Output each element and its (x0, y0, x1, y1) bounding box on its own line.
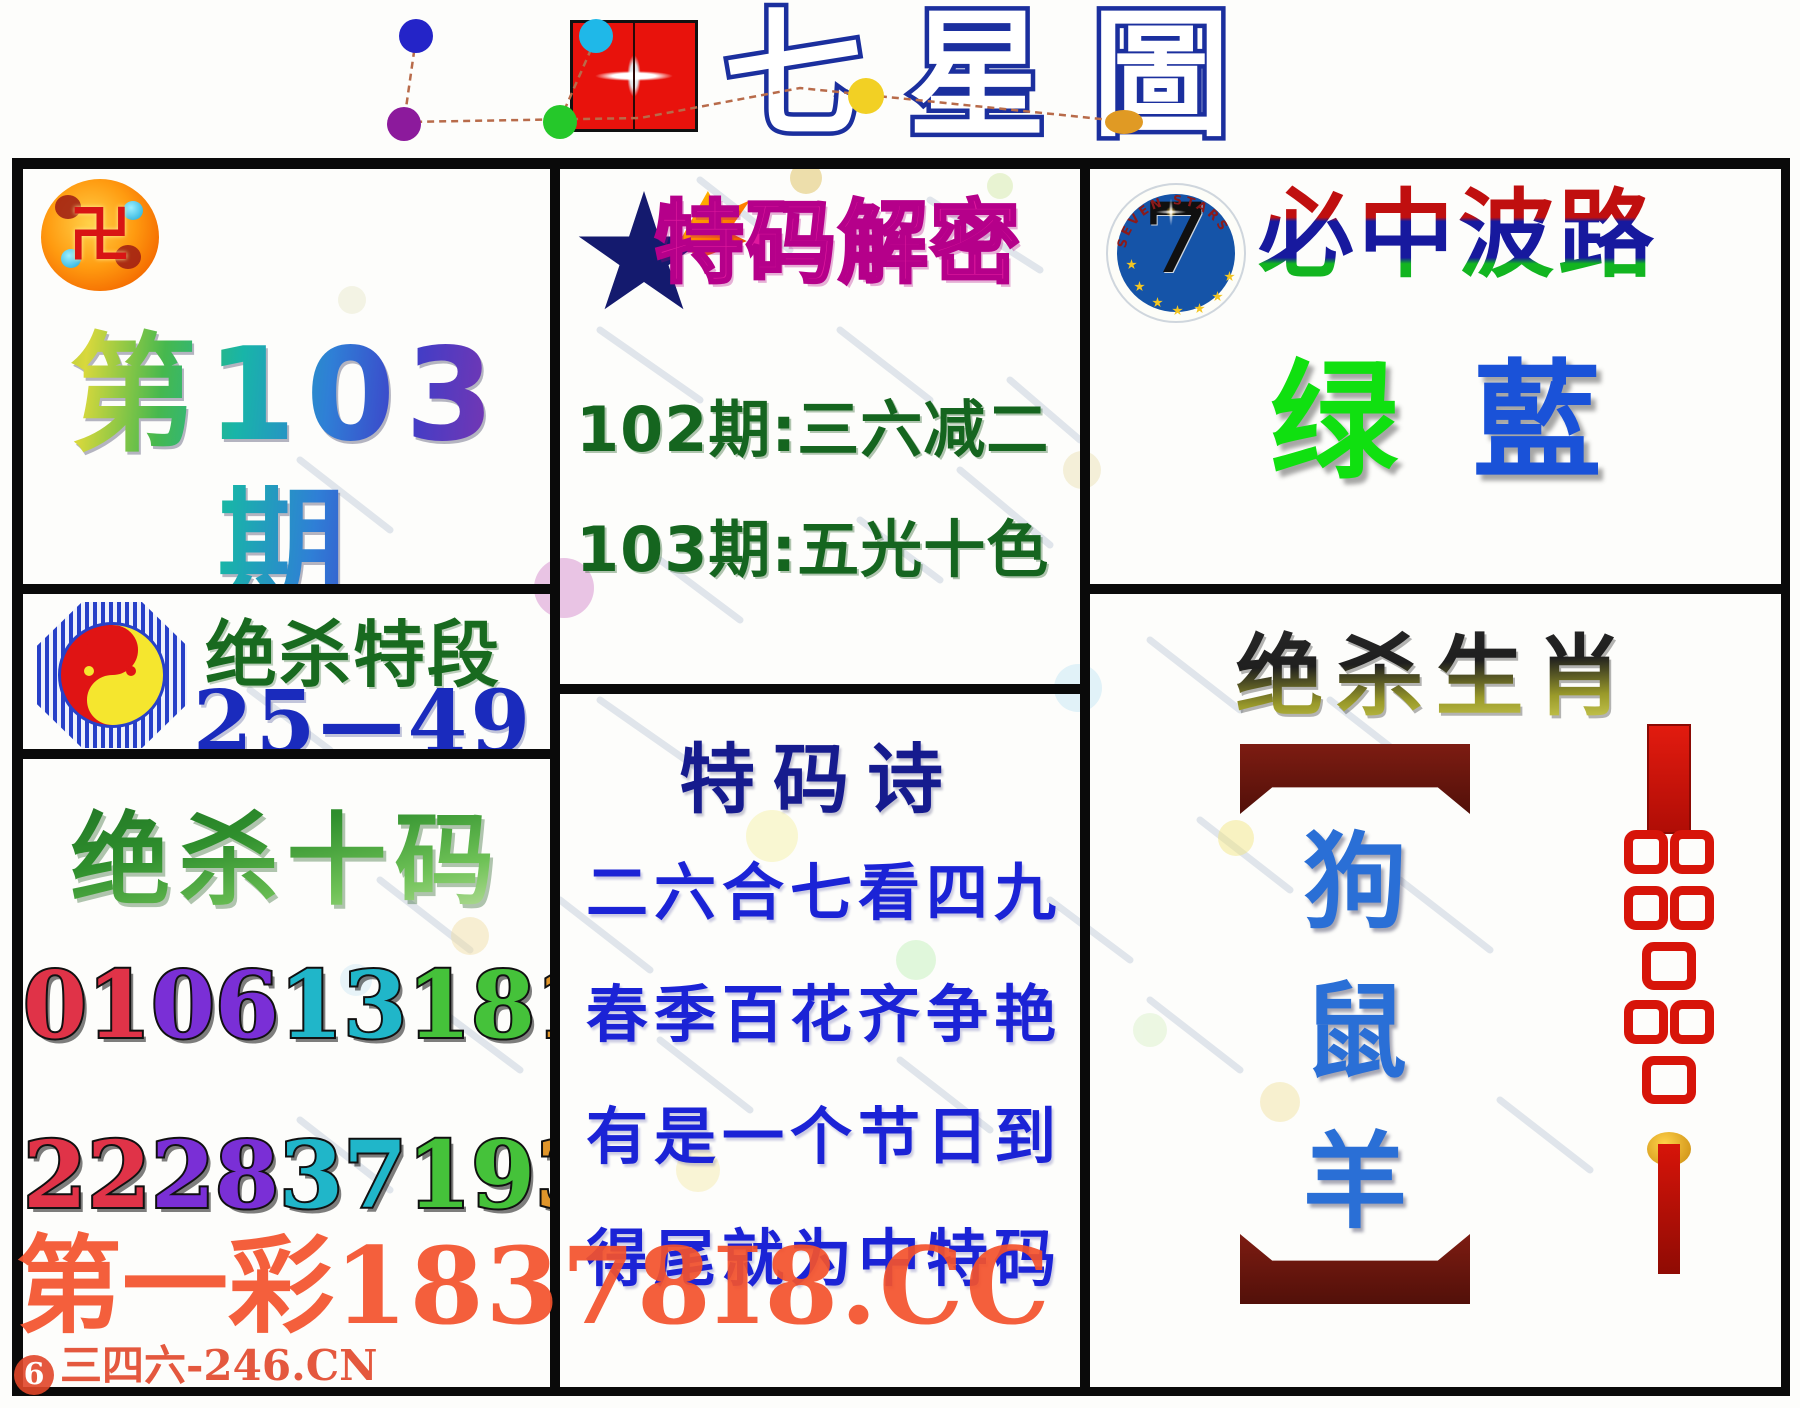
plaque-cap-top (1240, 744, 1470, 814)
watermark-main-number: 18378I8.CC (334, 1223, 1052, 1348)
poem-line-2: 春季百花齐争艳 (570, 964, 1078, 1054)
kill-number: 19 (535, 959, 555, 1051)
panel-issue: 卍 第103期 (18, 164, 555, 589)
svg-text:SEVEN STARS: SEVEN STARS (1114, 192, 1233, 249)
bagua-yinyang-icon (37, 602, 187, 748)
watermark-sub: 6三四六-246.CN (14, 1332, 378, 1395)
decode-line-1: 102期:三六减二 (576, 379, 1076, 469)
decode-header: 特码解密 (560, 177, 1080, 337)
kill-number: 06 (151, 959, 279, 1051)
poem-line-3: 有是一个节日到 (570, 1086, 1078, 1176)
zodiac-animal-2: 鼠 (1240, 980, 1470, 1084)
decode-title: 特码解密 (654, 197, 1084, 292)
zodiac-plaque: 狗 鼠 羊 (1240, 744, 1470, 1304)
kill-number: 01 (23, 959, 151, 1051)
fortune-lantern-icon: 卍 (41, 179, 159, 291)
logo-ring-text: SEVEN STARS (1108, 185, 1244, 321)
issue-label: 第103期 (23, 319, 550, 589)
zodiac-animal-3: 羊 (1240, 1130, 1470, 1234)
wave-values: 绿 藍 (1090, 359, 1781, 487)
wave-value-blue: 藍 (1473, 348, 1601, 497)
kill-ten-title: 绝杀十码 (23, 779, 550, 924)
kill-ten-row-1: 0106131819 (23, 959, 550, 1051)
header-title: 七 星 圖 (724, 7, 1230, 145)
wave-title: 必中波路 (1258, 185, 1658, 286)
panel-wave: 7 SEVEN STARS 必中波路 绿 藍 (1085, 164, 1786, 589)
emblem-divider (633, 23, 635, 129)
wave-value-green: 绿 (1270, 348, 1398, 497)
panel-decode: 特码解密 102期:三六减二 103期:五光十色 (555, 164, 1085, 689)
seven-star-red-emblem-icon (570, 20, 698, 132)
header-char-1: 七 (724, 7, 862, 145)
kill-segment-value: 25—49 (173, 672, 553, 754)
zodiac-animal-1: 狗 (1240, 830, 1470, 934)
header-char-3: 圖 (1092, 7, 1230, 145)
panel-kill-segment: 绝杀特段 25—49 (18, 589, 555, 754)
plaque-cap-bottom (1240, 1234, 1470, 1304)
header-char-2: 星 (908, 7, 1046, 145)
watermark-sub-text: 三四六-246.CN (60, 1341, 378, 1390)
kill-number: 18 (407, 959, 535, 1051)
poem-line-1: 二六合七看四九 (570, 842, 1078, 932)
panel-zodiac: 绝杀生肖 狗 鼠 羊 (1085, 589, 1786, 1392)
watermark-main: 第一彩18378I8.CC (16, 1200, 1052, 1354)
zodiac-title: 绝杀生肖 (1090, 606, 1781, 733)
chinese-knot-icon (1609, 724, 1729, 1324)
watermark-sub-badge: 6 (14, 1355, 54, 1395)
watermark-main-cn: 第一彩 (16, 1223, 334, 1348)
kill-number: 13 (279, 959, 407, 1051)
seven-stars-logo-icon: 7 SEVEN STARS (1106, 183, 1246, 323)
page-header: 七 星 圖 (0, 0, 1800, 152)
decode-line-2: 103期:五光十色 (576, 499, 1076, 589)
poem-title: 特码诗 (560, 718, 1080, 828)
